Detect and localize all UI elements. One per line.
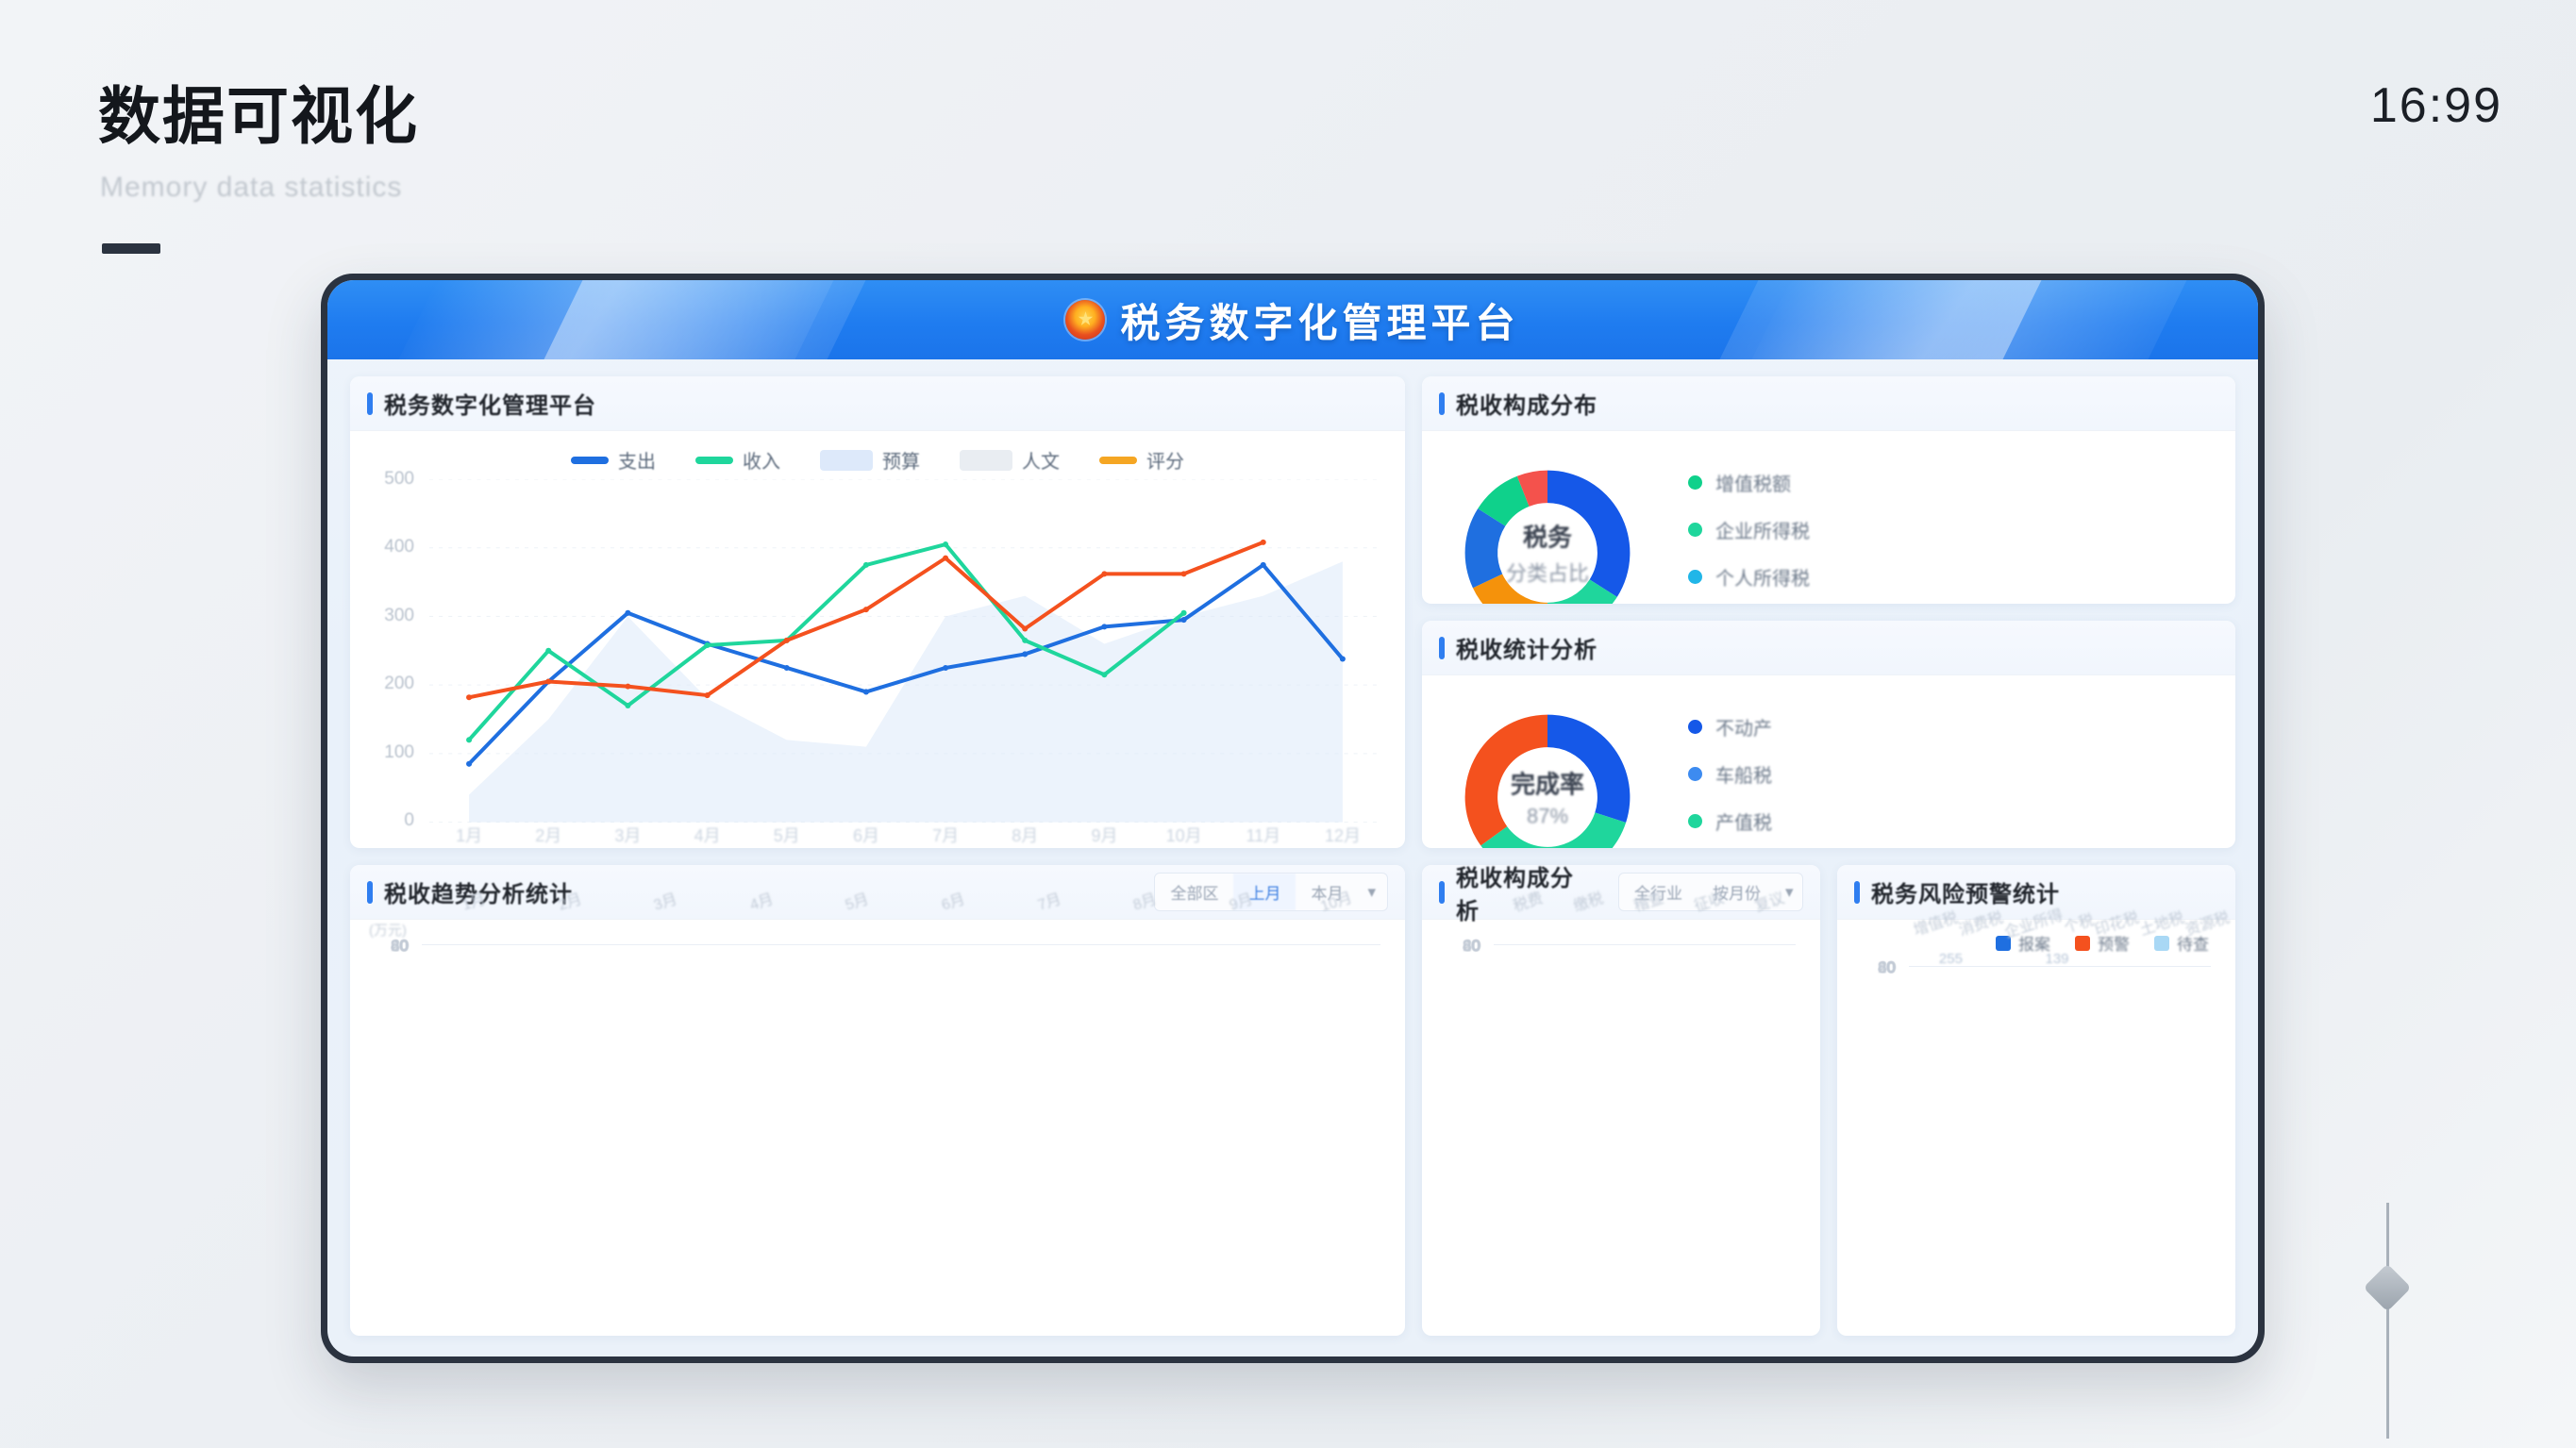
data-point xyxy=(863,562,869,568)
data-point xyxy=(1101,672,1107,677)
legend-dot-icon xyxy=(1688,814,1702,828)
data-point xyxy=(625,684,630,690)
legend-dot-icon xyxy=(1688,720,1702,734)
legend-label: 个人所得税 xyxy=(1715,563,1810,591)
data-point xyxy=(545,678,551,684)
data-point xyxy=(466,737,472,742)
legend-dot-icon xyxy=(1688,767,1702,781)
bar-x-axis: 税费缴税稽查征收复议 xyxy=(1494,890,1796,925)
page-subtitle: Memory data statistics xyxy=(100,172,402,204)
data-point xyxy=(1181,610,1187,616)
page-title: 数据可视化 xyxy=(98,66,419,157)
legend-label: 人文 xyxy=(1022,446,1060,474)
line-legend-item[interactable]: 评分 xyxy=(1099,446,1184,474)
bar-right-body: 报案预警待查 020406080255139增值税消费税企业所得个税印花税土地税… xyxy=(1837,920,2235,1336)
y-axis-tick: 80 xyxy=(1878,958,1896,977)
legend-dot-icon xyxy=(1688,570,1702,584)
donut-two-card: 税收统计分析 完成率 87% 不动产车船税产值税增值税 xyxy=(1422,621,2235,848)
slider-track[interactable] xyxy=(2386,1203,2389,1439)
x-axis-tick: 个税 xyxy=(2061,907,2097,938)
y-axis-tick: 80 xyxy=(391,937,409,956)
y-axis-tick: 100 xyxy=(384,742,414,763)
clock-display: 16:99 xyxy=(2370,77,2502,134)
data-point xyxy=(1101,624,1107,629)
line-chart-svg xyxy=(429,479,1382,823)
data-point xyxy=(1181,571,1187,576)
x-axis-tick: 7月 xyxy=(906,823,985,847)
donut-legend-item[interactable]: 增值税额 xyxy=(1688,469,2218,496)
legend-label: 企业所得税 xyxy=(1715,516,1810,543)
data-point xyxy=(705,692,711,698)
legend-dot-icon xyxy=(1688,523,1702,537)
data-point xyxy=(943,665,948,671)
data-point xyxy=(863,607,869,612)
x-axis-tick: 2月 xyxy=(509,823,588,847)
platform-title: 税务数字化管理平台 xyxy=(1120,291,1519,349)
bar-left-body: (万元)0204060801月2月3月4月5月6月7月8月9月10月 xyxy=(350,920,1405,1336)
donut-one-center-main: 税务 xyxy=(1486,519,1609,554)
data-point xyxy=(466,761,472,767)
bar-mid-body: 020406080税费缴税稽查征收复议 xyxy=(1422,920,1820,1336)
donut-two-chart[interactable]: 完成率 87% xyxy=(1439,689,1656,848)
data-point xyxy=(1261,562,1266,568)
x-axis-tick: 10月 xyxy=(1145,823,1224,847)
data-point xyxy=(863,689,869,694)
bar-left-card: 税收趋势分析统计 全部区上月本月▾ (万元)0204060801月2月3月4月5… xyxy=(350,865,1405,1336)
donut-two-title: 税收统计分析 xyxy=(1456,631,1597,664)
donut-one-center-label: 税务 分类占比 xyxy=(1486,519,1609,588)
legend-dot-icon xyxy=(1688,475,1702,490)
topbar-deco-right-2 xyxy=(1720,280,2042,359)
national-emblem-icon xyxy=(1065,300,1105,340)
x-axis-tick: 4月 xyxy=(668,823,747,847)
data-point xyxy=(1181,617,1187,623)
device-bezel: 税务数字化管理平台 税务数字化管理平台 支出收入预算人文评分 010020030… xyxy=(321,274,2265,1363)
donut-two-center-label: 完成率 87% xyxy=(1486,766,1609,829)
y-axis-tick: 300 xyxy=(384,606,414,626)
legend-label: 支出 xyxy=(618,446,656,474)
donut-legend-item[interactable]: 不动产 xyxy=(1688,713,2218,741)
donut-legend-item[interactable]: 产值税 xyxy=(1688,807,2218,835)
bottom-chart-row: 税收趋势分析统计 全部区上月本月▾ (万元)0204060801月2月3月4月5… xyxy=(350,865,2235,1336)
legend-swatch-icon xyxy=(571,457,609,464)
bar-plot-area xyxy=(422,944,1380,945)
line-chart-plot: 0100200300400500 1月2月3月4月5月6月7月8月9月10月11… xyxy=(363,479,1392,847)
card-accent-bar xyxy=(367,392,373,415)
y-axis-tick: 500 xyxy=(384,469,414,490)
bar-right-title: 税务风险预警统计 xyxy=(1871,875,2060,908)
x-axis-tick: 9月 xyxy=(1064,823,1144,847)
bar-data-label: 255 xyxy=(1939,951,1963,967)
donut-one-title: 税收构成分布 xyxy=(1456,387,1597,420)
bar-x-axis: 增值税消费税企业所得个税印花税土地税资源税 xyxy=(1909,911,2211,947)
data-point xyxy=(705,642,711,648)
y-axis-tick: 80 xyxy=(1463,937,1480,956)
legend-label: 产值税 xyxy=(1715,807,1772,835)
bar-plot-area xyxy=(1494,944,1796,945)
data-point xyxy=(545,648,551,654)
legend-swatch-icon xyxy=(1099,457,1137,464)
line-legend-item[interactable]: 支出 xyxy=(571,446,656,474)
x-axis-tick: 1月 xyxy=(429,823,509,847)
donut-one-legend: 增值税额企业所得税个人所得税其他税种 xyxy=(1656,469,2218,605)
data-point xyxy=(1022,625,1028,631)
donut-one-center-sub: 分类占比 xyxy=(1486,558,1609,588)
line-chart-body: 支出收入预算人文评分 0100200300400500 1月2月3月4月5月6月… xyxy=(350,431,1405,848)
data-point xyxy=(625,703,630,708)
card-accent-bar xyxy=(1439,392,1445,415)
x-axis-tick: 12月 xyxy=(1303,823,1382,847)
data-point xyxy=(943,556,948,561)
card-accent-bar xyxy=(1854,881,1860,904)
donut-two-body: 完成率 87% 不动产车船税产值税增值税 xyxy=(1422,675,2235,848)
line-chart-card-header: 税务数字化管理平台 xyxy=(350,376,1405,431)
legend-label: 评分 xyxy=(1146,446,1184,474)
legend-label: 车船税 xyxy=(1715,760,1772,788)
y-axis-tick: 0 xyxy=(404,810,414,831)
bar-right-card: 税务风险预警统计 报案预警待查 020406080255139增值税消费税企业所… xyxy=(1837,865,2235,1336)
line-legend-item[interactable]: 收入 xyxy=(695,446,780,474)
line-chart-legend: 支出收入预算人文评分 xyxy=(363,441,1392,475)
line-chart-card: 税务数字化管理平台 支出收入预算人文评分 0100200300400500 1月… xyxy=(350,376,1405,848)
line-chart-title: 税务数字化管理平台 xyxy=(384,387,596,420)
data-point xyxy=(784,638,790,643)
donut-one-body: 税务 分类占比 增值税额企业所得税个人所得税其他税种 xyxy=(1422,431,2235,604)
data-point xyxy=(625,610,630,616)
legend-label: 不动产 xyxy=(1715,713,1772,741)
card-accent-bar xyxy=(1439,637,1445,659)
x-axis-tick: 11月 xyxy=(1224,823,1303,847)
legend-swatch-icon xyxy=(960,450,1012,471)
data-point xyxy=(1101,571,1107,576)
legend-swatch-icon xyxy=(695,457,733,464)
slider-diamond-handle[interactable] xyxy=(2364,1264,2412,1312)
donut-legend-item[interactable]: 企业所得税 xyxy=(1688,516,2218,543)
donut-column: 税收构成分布 税务 分类占比 增值税额企业所得税个人所得税其他税种 xyxy=(1422,376,2235,848)
platform-topbar: 税务数字化管理平台 xyxy=(327,280,2258,359)
dashboard-grid: 税务数字化管理平台 支出收入预算人文评分 0100200300400500 1月… xyxy=(327,359,2258,1356)
line-legend-item[interactable]: 人文 xyxy=(960,446,1060,474)
data-point xyxy=(1261,540,1266,545)
bar-data-label: 139 xyxy=(2045,951,2068,967)
x-axis-tick: 6月 xyxy=(827,823,906,847)
dashboard-screen: 税务数字化管理平台 税务数字化管理平台 支出收入预算人文评分 010020030… xyxy=(327,280,2258,1356)
card-accent-bar xyxy=(367,881,373,904)
data-point xyxy=(784,665,790,671)
donut-legend-item[interactable]: 车船税 xyxy=(1688,760,2218,788)
y-axis-tick: 400 xyxy=(384,537,414,558)
side-slider[interactable] xyxy=(2359,1203,2416,1439)
legend-swatch-icon xyxy=(820,450,873,471)
data-point xyxy=(1022,651,1028,657)
bar-x-axis: 1月2月3月4月5月6月7月8月9月10月 xyxy=(422,890,1380,925)
x-axis-tick: 8月 xyxy=(985,823,1064,847)
legend-label: 预算 xyxy=(882,446,920,474)
donut-two-header: 税收统计分析 xyxy=(1422,621,2235,675)
line-chart-y-axis: 0100200300400500 xyxy=(363,479,422,821)
donut-one-card: 税收构成分布 税务 分类占比 增值税额企业所得税个人所得税其他税种 xyxy=(1422,376,2235,604)
bar-mid-card: 税收构成分析 全行业按月份▾ 020406080税费缴税稽查征收复议 xyxy=(1422,865,1820,1336)
line-legend-item[interactable]: 预算 xyxy=(820,446,920,474)
data-point xyxy=(1022,638,1028,643)
donut-two-center-sub: 87% xyxy=(1486,805,1609,829)
data-point xyxy=(466,694,472,700)
line-chart-x-axis: 1月2月3月4月5月6月7月8月9月10月11月12月 xyxy=(429,823,1382,847)
legend-label: 增值税额 xyxy=(1715,469,1791,496)
x-axis-tick: 3月 xyxy=(588,823,667,847)
title-underline-rule xyxy=(102,243,160,254)
donut-legend-item[interactable]: 个人所得税 xyxy=(1688,563,2218,591)
data-point xyxy=(943,541,948,547)
donut-one-chart[interactable]: 税务 分类占比 xyxy=(1439,444,1656,604)
donut-two-legend: 不动产车船税产值税增值税 xyxy=(1656,713,2218,849)
data-point xyxy=(1340,656,1346,661)
y-axis-tick: 200 xyxy=(384,674,414,694)
x-axis-tick: 5月 xyxy=(747,823,827,847)
donut-one-header: 税收构成分布 xyxy=(1422,376,2235,431)
legend-label: 收入 xyxy=(743,446,780,474)
topbar-deco-left-2 xyxy=(544,280,866,359)
card-accent-bar xyxy=(1439,881,1445,904)
donut-two-center-main: 完成率 xyxy=(1486,766,1609,801)
